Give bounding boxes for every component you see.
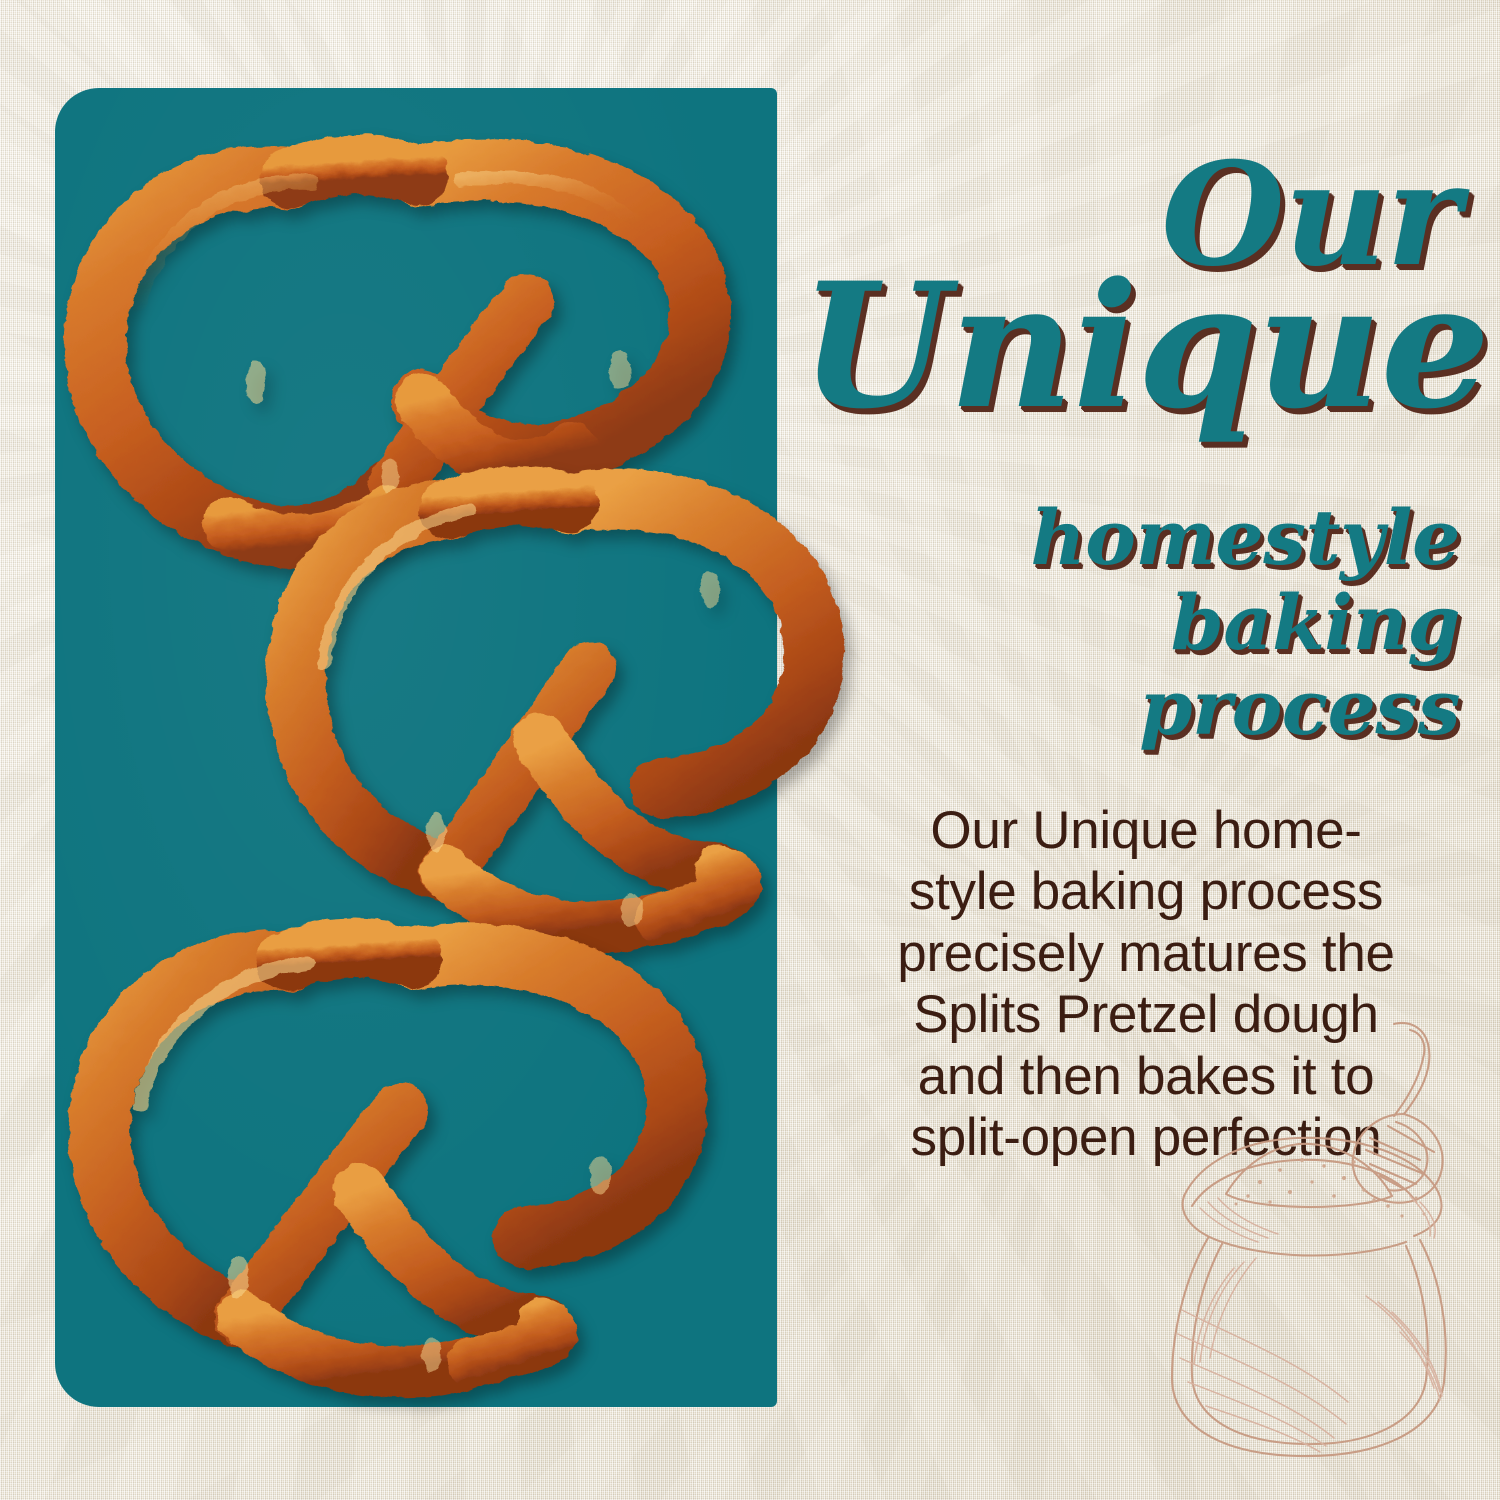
body-line-3: precisely matures the [830, 923, 1462, 984]
headline-line-unique: Unique [800, 267, 1460, 425]
body-line-1: Our Unique home- [830, 800, 1462, 861]
copy-column: Our Unique homestyle baking process Our … [800, 0, 1500, 1500]
body-line-5: and then bakes it to [830, 1046, 1462, 1107]
product-image-panel [55, 88, 777, 1407]
body-line-2: style baking process [830, 861, 1462, 922]
subheading-line-3: process [800, 665, 1460, 750]
page-title: Our Unique [800, 150, 1460, 425]
subheading: homestyle baking process [800, 495, 1460, 750]
body-line-4: Splits Pretzel dough [830, 984, 1462, 1045]
subheading-line-2: baking [800, 580, 1460, 665]
subheading-line-1: homestyle [800, 495, 1460, 580]
body-line-6: split-open perfection [830, 1107, 1462, 1168]
body-paragraph: Our Unique home- style baking process pr… [830, 800, 1462, 1169]
